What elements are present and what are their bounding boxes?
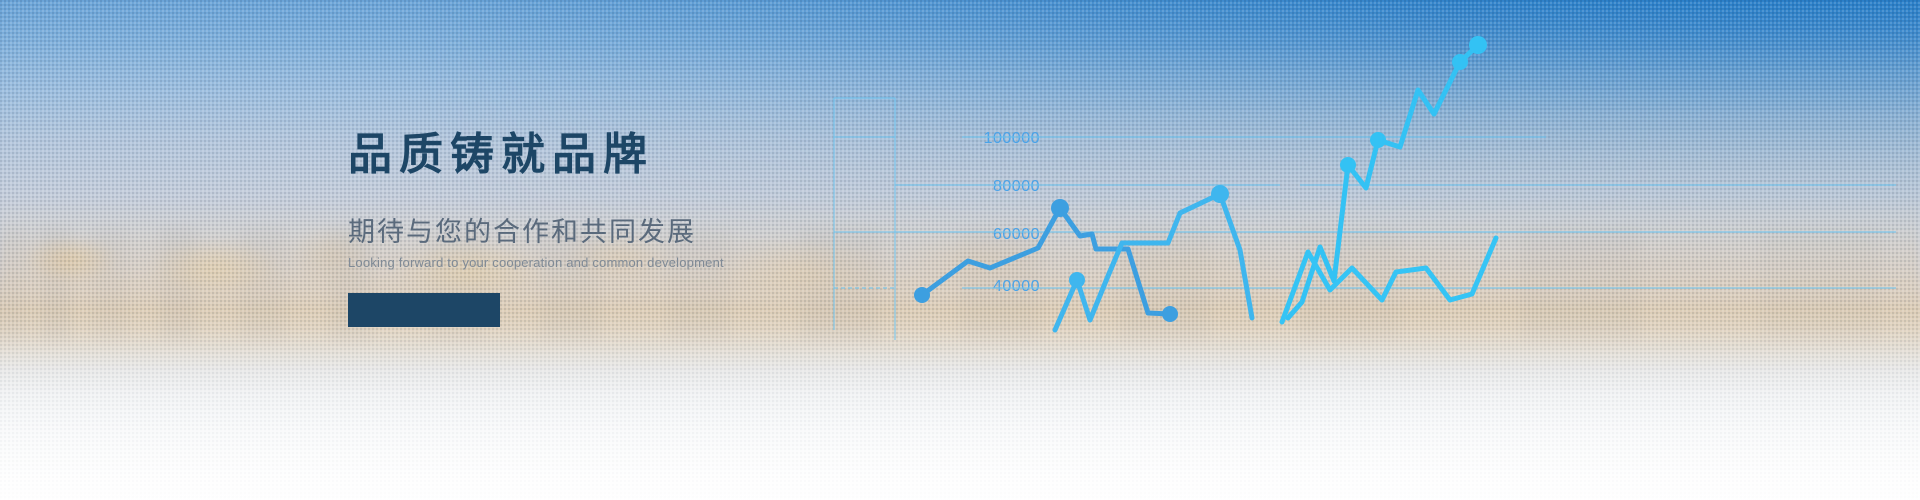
y-tick-60000: 60000 — [993, 226, 1040, 243]
series-1-line — [922, 208, 1170, 314]
series-3-marker-b — [1370, 132, 1386, 148]
series-1-marker-start — [914, 287, 930, 303]
banner-subheadline-english: Looking forward to your cooperation and … — [348, 255, 868, 271]
banner-subheadline: 期待与您的合作和共同发展 — [348, 216, 868, 248]
chart-series-2 — [1055, 194, 1252, 330]
y-tick-100000: 100000 — [984, 130, 1040, 147]
banner-cta-button[interactable] — [348, 293, 500, 327]
series-3-marker-end — [1469, 36, 1487, 54]
y-tick-40000: 40000 — [993, 278, 1040, 295]
line-chart: 100000 80000 60000 40000 — [930, 0, 1920, 420]
chart-series-1 — [922, 208, 1170, 314]
banner-copy: 品质铸就品牌 期待与您的合作和共同发展 Looking forward to y… — [348, 128, 868, 327]
series-2-marker-a — [1069, 272, 1085, 288]
y-tick-80000: 80000 — [993, 178, 1040, 195]
series-1-marker-peak — [1051, 199, 1069, 217]
chart-series-3 — [1288, 45, 1478, 318]
series-2-line — [1055, 194, 1252, 330]
series-3-marker-c — [1452, 54, 1468, 70]
series-4-line — [1282, 238, 1496, 322]
series-3-marker-a — [1340, 157, 1356, 173]
series-2-marker-peak — [1211, 185, 1229, 203]
hero-banner: 品质铸就品牌 期待与您的合作和共同发展 Looking forward to y… — [0, 0, 1920, 500]
banner-headline: 品质铸就品牌 — [348, 128, 868, 182]
chart-series-4 — [1282, 238, 1496, 322]
chart-y-axis-labels: 100000 80000 60000 40000 — [984, 130, 1040, 295]
series-1-marker-end — [1162, 306, 1178, 322]
series-3-line — [1288, 45, 1478, 318]
chart-series-1-markers — [914, 199, 1178, 322]
